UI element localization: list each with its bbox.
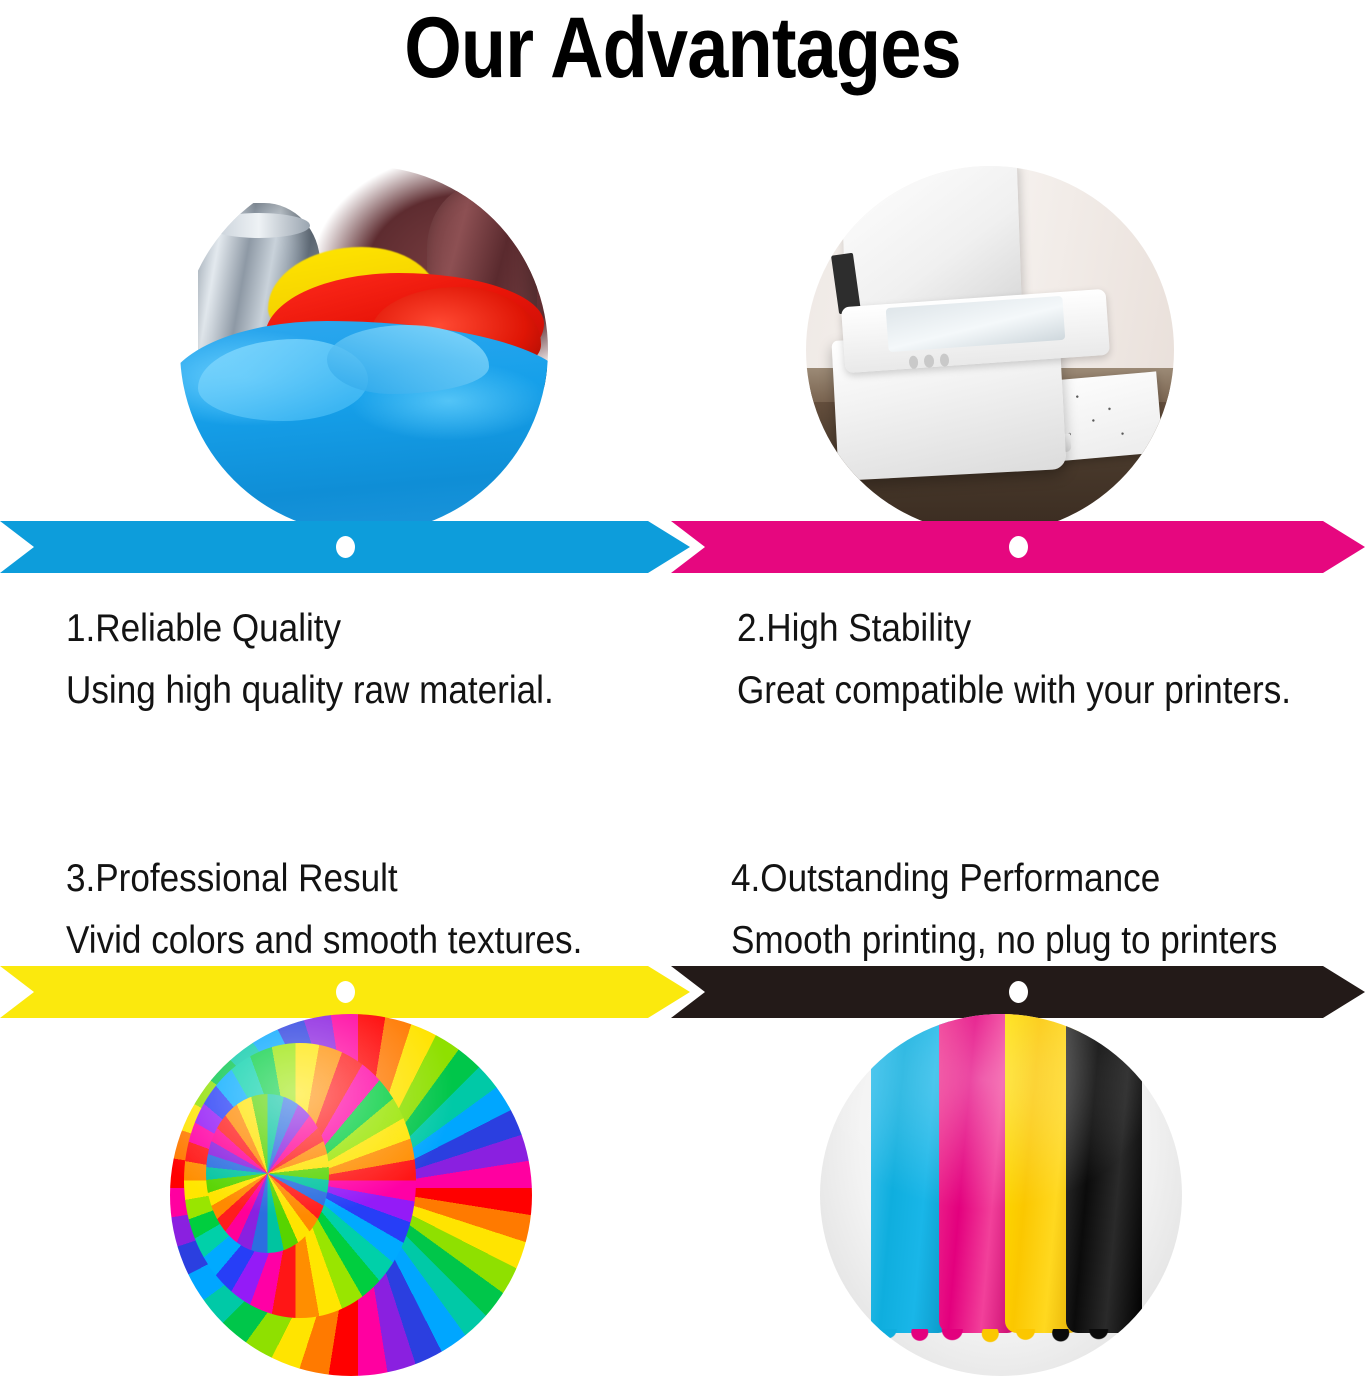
- advantage-description-2: Great compatible with your printers.: [737, 660, 1313, 722]
- cmyk-ink-flow-photo: [820, 1014, 1182, 1376]
- advantage-heading-4: 4.Outstanding Performance: [731, 848, 1312, 910]
- advantage-text-1: 1.Reliable Quality Using high quality ra…: [66, 598, 686, 722]
- paint-splash-blue: [180, 321, 548, 534]
- page-title: Our Advantages: [96, 0, 1270, 96]
- printer-photo: [806, 166, 1174, 534]
- advantage-banner-cyan: [0, 521, 690, 573]
- rainbow-spiral-photo-content: [170, 1014, 532, 1376]
- advantage-heading-2: 2.High Stability: [737, 598, 1313, 660]
- rainbow-gloss-overlay: [170, 1014, 532, 1376]
- paint-splash-photo-content: [180, 166, 548, 534]
- advantage-text-3: 3.Professional Result Vivid colors and s…: [66, 848, 686, 972]
- advantage-text-2: 2.High Stability Great compatible with y…: [737, 598, 1365, 722]
- advantage-description-4: Smooth printing, no plug to printers: [731, 910, 1312, 972]
- advantage-banner-magenta: [671, 521, 1365, 573]
- cmyk-gloss-overlay: [820, 1014, 1182, 1376]
- printer-button: [924, 354, 934, 367]
- advantage-description-3: Vivid colors and smooth textures.: [66, 910, 624, 972]
- paint-splash-photo: [180, 166, 548, 534]
- printer-button: [939, 353, 949, 366]
- advantage-text-4: 4.Outstanding Performance Smooth printin…: [731, 848, 1365, 972]
- banner-marker-dot: [336, 536, 355, 558]
- advantage-description-1: Using high quality raw material.: [66, 660, 624, 722]
- cmyk-ink-flow-photo-content: [820, 1014, 1182, 1376]
- printer-button: [909, 355, 919, 368]
- banner-marker-dot: [336, 981, 355, 1003]
- printer-photo-content: [806, 166, 1174, 534]
- rainbow-spiral-photo: [170, 1014, 532, 1376]
- advantage-heading-3: 3.Professional Result: [66, 848, 624, 910]
- advantage-banner-yellow: [0, 966, 690, 1018]
- advantage-heading-1: 1.Reliable Quality: [66, 598, 624, 660]
- banner-marker-dot: [1009, 536, 1028, 558]
- banner-marker-dot: [1009, 981, 1028, 1003]
- advantage-banner-black: [671, 966, 1365, 1018]
